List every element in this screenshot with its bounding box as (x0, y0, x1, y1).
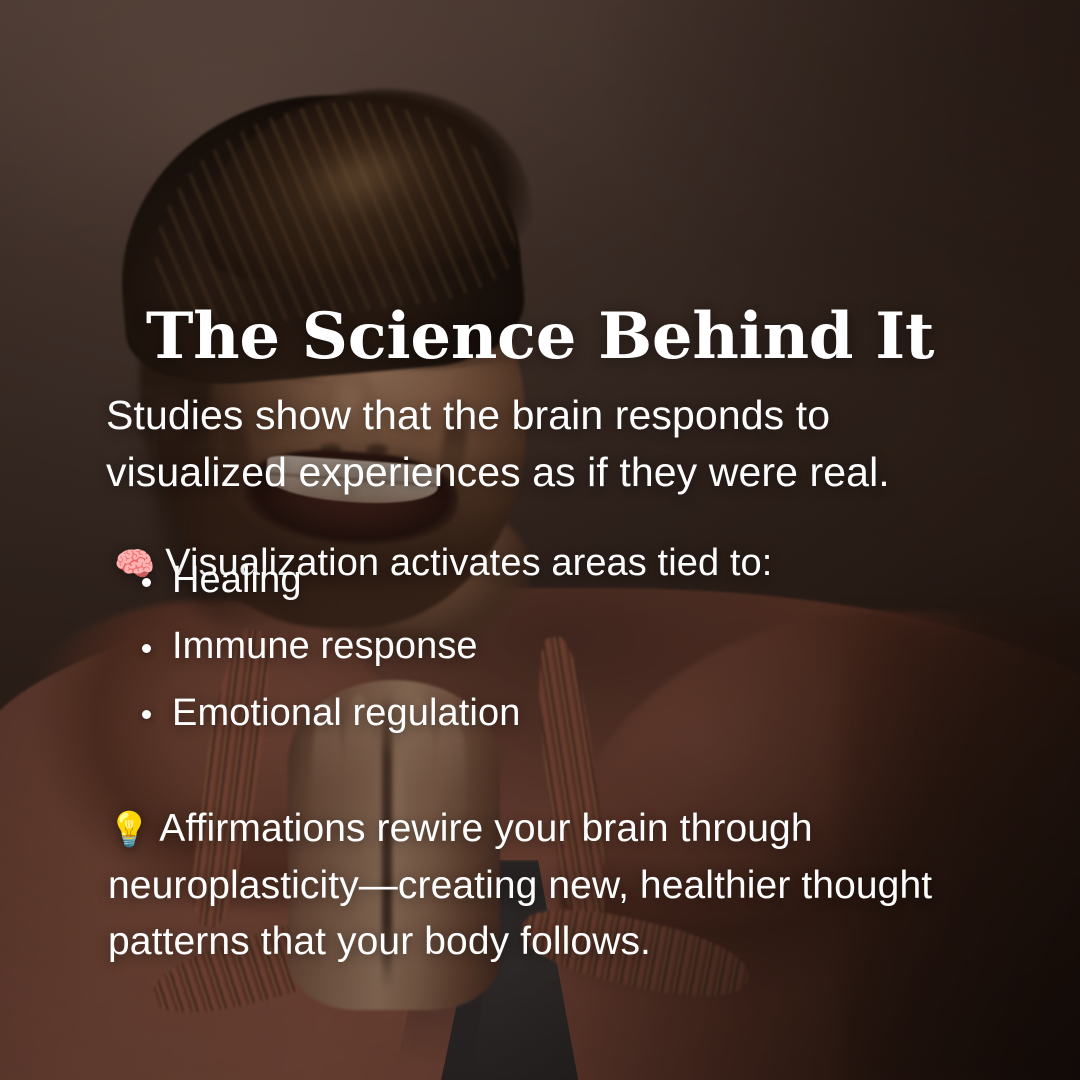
closing-label: Affirmations rewire your brain through n… (108, 807, 932, 963)
bullet-dot-icon (142, 710, 151, 719)
benefits-list: Healing Immune response Emotional regula… (140, 554, 900, 753)
list-item-label: Emotional regulation (172, 692, 520, 734)
bullet-dot-icon (142, 578, 151, 587)
page-title: The Science Behind It (0, 305, 1080, 369)
bullet-dot-icon (142, 644, 151, 653)
list-item-label: Immune response (172, 625, 478, 667)
post-content: The Science Behind It Studies show that … (0, 0, 1080, 1080)
lede-paragraph: Studies show that the brain responds to … (106, 387, 936, 502)
list-item-label: Healing (172, 559, 302, 601)
list-item: Immune response (140, 620, 900, 672)
lightbulb-emoji: 💡 (108, 811, 150, 849)
closing-paragraph: 💡 Affirmations rewire your brain through… (108, 801, 948, 971)
list-item: Emotional regulation (140, 687, 900, 739)
social-post-card: The Science Behind It Studies show that … (0, 0, 1080, 1080)
list-item: Healing (140, 554, 900, 606)
